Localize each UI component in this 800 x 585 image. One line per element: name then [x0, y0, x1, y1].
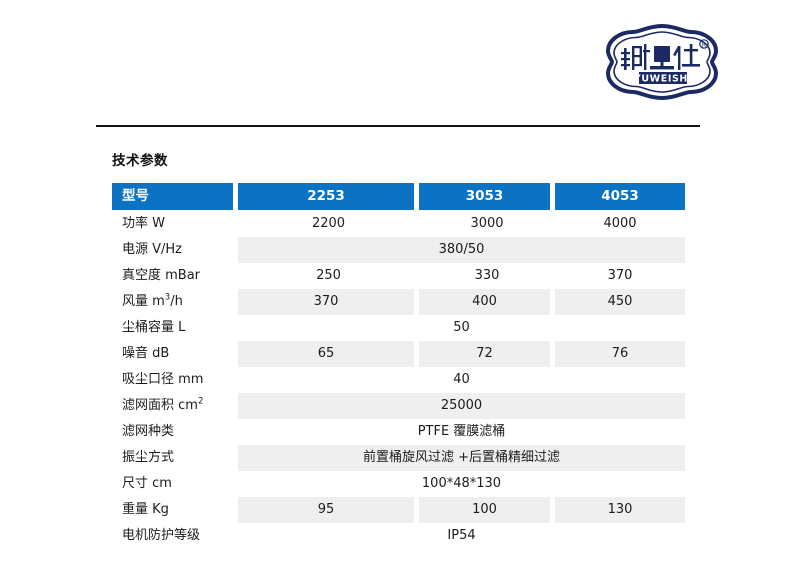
table-row: 吸尘口径 mm40 — [112, 367, 685, 393]
column-header-3053: 3053 — [419, 183, 555, 211]
row-label: 重量 Kg — [112, 497, 238, 523]
unit-superscript: 3 — [165, 293, 170, 303]
row-label: 振尘方式 — [112, 445, 238, 471]
row-value: 370 — [238, 289, 419, 315]
row-value: 95 — [238, 497, 419, 523]
row-label: 滤网种类 — [112, 419, 238, 445]
row-value: 3000 — [419, 211, 555, 237]
row-label: 噪音 dB — [112, 341, 238, 367]
table-row: 振尘方式前置桶旋风过滤 +后置桶精细过滤 — [112, 445, 685, 471]
table-row: 电源 V/Hz380/50 — [112, 237, 685, 263]
row-value-merged: IP54 — [238, 523, 685, 549]
row-value: 100 — [419, 497, 555, 523]
row-value: 4000 — [555, 211, 685, 237]
row-value: 450 — [555, 289, 685, 315]
table-row: 滤网种类PTFE 覆膜滤桶 — [112, 419, 685, 445]
row-value: 76 — [555, 341, 685, 367]
row-value-merged: 50 — [238, 315, 685, 341]
row-label: 吸尘口径 mm — [112, 367, 238, 393]
svg-text:R: R — [702, 42, 706, 49]
column-header-4053: 4053 — [555, 183, 685, 211]
row-value: 130 — [555, 497, 685, 523]
row-label: 功率 W — [112, 211, 238, 237]
table-row: 风量 m3/h370400450 — [112, 289, 685, 315]
row-value: 370 — [555, 263, 685, 289]
spec-table: 型号 2253 3053 4053 功率 W220030004000电源 V/H… — [112, 183, 685, 549]
table-row: 噪音 dB657276 — [112, 341, 685, 367]
row-label: 电源 V/Hz — [112, 237, 238, 263]
row-value-merged: PTFE 覆膜滤桶 — [238, 419, 685, 445]
table-row: 尘桶容量 L50 — [112, 315, 685, 341]
table-row: 电机防护等级IP54 — [112, 523, 685, 549]
row-value: 72 — [419, 341, 555, 367]
row-label: 尺寸 cm — [112, 471, 238, 497]
unit-superscript: 2 — [198, 397, 203, 407]
row-label: 风量 m3/h — [112, 289, 238, 315]
table-row: 真空度 mBar250330370 — [112, 263, 685, 289]
row-value: 65 — [238, 341, 419, 367]
row-value: 250 — [238, 263, 419, 289]
row-label: 电机防护等级 — [112, 523, 238, 549]
column-header-model: 型号 — [112, 183, 238, 211]
row-label: 滤网面积 cm2 — [112, 393, 238, 419]
table-header-row: 型号 2253 3053 4053 — [112, 183, 685, 211]
column-header-2253: 2253 — [238, 183, 419, 211]
row-value: 2200 — [238, 211, 419, 237]
row-value-merged: 25000 — [238, 393, 685, 419]
row-value-merged: 100*48*130 — [238, 471, 685, 497]
table-row: 尺寸 cm100*48*130 — [112, 471, 685, 497]
table-row: 重量 Kg95100130 — [112, 497, 685, 523]
row-value: 330 — [419, 263, 555, 289]
table-row: 功率 W220030004000 — [112, 211, 685, 237]
row-value-merged: 380/50 — [238, 237, 685, 263]
header-divider — [96, 125, 700, 127]
svg-text:YUWEISHI: YUWEISHI — [633, 74, 692, 85]
yuweishi-logo-icon: R YUWEISHI — [592, 22, 732, 102]
brand-logo: R YUWEISHI — [592, 22, 732, 102]
table-body: 功率 W220030004000电源 V/Hz380/50真空度 mBar250… — [112, 211, 685, 549]
table-row: 滤网面积 cm225000 — [112, 393, 685, 419]
row-value: 400 — [419, 289, 555, 315]
row-label: 真空度 mBar — [112, 263, 238, 289]
row-value-merged: 前置桶旋风过滤 +后置桶精细过滤 — [238, 445, 685, 471]
page-title: 技术参数 — [112, 149, 168, 169]
row-label: 尘桶容量 L — [112, 315, 238, 341]
row-value-merged: 40 — [238, 367, 685, 393]
